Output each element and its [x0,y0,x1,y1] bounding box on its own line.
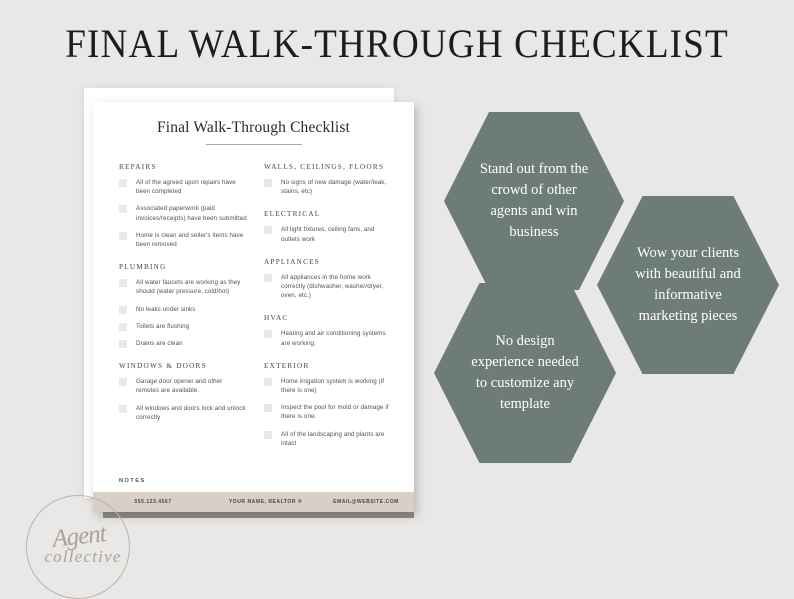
checklist-item-label: No signs of new damage (water/leak, stai… [281,178,392,196]
checklist-left-column: REPAIRS All of the agreed upon repairs h… [119,163,247,456]
checklist-item-label: All of the landscaping and plants are in… [281,430,392,448]
document-title: Final Walk-Through Checklist [93,119,414,137]
checklist-item-label: Drains are clean [136,339,183,348]
checklist-item-label: All windows and doors lock and unlock co… [136,404,247,422]
checklist-item-label: All water faucets are working as they sh… [136,278,247,296]
checklist-item[interactable]: Drains are clean [119,339,247,348]
checklist-item[interactable]: All of the landscaping and plants are in… [264,430,392,448]
checkbox-icon[interactable] [119,179,127,187]
checklist-item[interactable]: Inspect the pool for mold or damage if t… [264,403,392,421]
checklist-item-label: All of the agreed upon repairs have been… [136,178,247,196]
checkbox-icon[interactable] [119,279,127,287]
page-title: FINAL WALK-THROUGH CHECKLIST [28,22,766,66]
section-heading: REPAIRS [119,163,247,171]
checklist-item-label: Associated paperwork (paid invoices/rece… [136,204,247,222]
section-heading: APPLIANCES [264,258,392,266]
checklist-item[interactable]: Associated paperwork (paid invoices/rece… [119,204,247,222]
checkbox-icon[interactable] [119,232,127,240]
checklist-item[interactable]: All light fixtures, ceiling fans, and ou… [264,225,392,243]
document-front-sheet[interactable]: Final Walk-Through Checklist REPAIRS All… [93,102,414,512]
checkbox-icon[interactable] [264,404,272,412]
checklist-columns: REPAIRS All of the agreed upon repairs h… [119,163,392,456]
checklist-item[interactable]: Heating and air conditioning systems are… [264,329,392,347]
checklist-item[interactable]: Toilets are flushing [119,322,247,331]
section-windows-and-doors: WINDOWS & DOORS Garage door opener and o… [119,362,247,422]
section-electrical: ELECTRICAL All light fixtures, ceiling f… [264,210,392,243]
checkbox-icon[interactable] [119,340,127,348]
checklist-item-label: Toilets are flushing [136,322,189,331]
hexagon-callout-text: No design experience needed to customize… [470,331,580,415]
hexagon-callout-2: Wow your clients with beautiful and info… [597,196,779,374]
checklist-item[interactable]: No leaks under sinks [119,305,247,314]
notes-heading: NOTES [119,478,392,484]
checklist-item-label: Garage door opener and other remotes are… [136,377,247,395]
checkbox-icon[interactable] [119,205,127,213]
brand-watermark-logo: Agent collective [26,495,130,599]
checkbox-icon[interactable] [119,306,127,314]
hexagon-callout-3: No design experience needed to customize… [434,283,616,463]
checklist-item-label: All light fixtures, ceiling fans, and ou… [281,225,392,243]
section-repairs: REPAIRS All of the agreed upon repairs h… [119,163,247,249]
checklist-item[interactable]: All of the agreed upon repairs have been… [119,178,247,196]
checklist-item-label: All appliances in the home work correctl… [281,273,392,301]
checklist-item[interactable]: No signs of new damage (water/leak, stai… [264,178,392,196]
checkbox-icon[interactable] [264,226,272,234]
checklist-item[interactable]: All appliances in the home work correctl… [264,273,392,301]
section-walls-ceilings-floors: WALLS, CEILINGS, FLOORS No signs of new … [264,163,392,196]
section-appliances: APPLIANCES All appliances in the home wo… [264,258,392,301]
checkbox-icon[interactable] [119,323,127,331]
checkbox-icon[interactable] [264,431,272,439]
section-heading: WINDOWS & DOORS [119,362,247,370]
checklist-item[interactable]: Garage door opener and other remotes are… [119,377,247,395]
checklist-item-label: Home is clean and seller's items have be… [136,231,247,249]
checkbox-icon[interactable] [264,274,272,282]
hexagon-callout-1: Stand out from the crowd of other agents… [444,112,624,290]
footer-name: YOUR NAME, REALTOR ® [213,499,318,505]
section-exterior: EXTERIOR Home irrigation system is worki… [264,362,392,448]
checklist-item-label: Inspect the pool for mold or damage if t… [281,403,392,421]
section-hvac: HVAC Heating and air conditioning system… [264,314,392,347]
footer-email: EMAIL@WEBSITE.COM [318,499,414,505]
section-heading: EXTERIOR [264,362,392,370]
checklist-item-label: No leaks under sinks [136,305,195,314]
document-stack-shadow [103,512,414,518]
checkbox-icon[interactable] [264,330,272,338]
checkbox-icon[interactable] [264,179,272,187]
checkbox-icon[interactable] [264,378,272,386]
checklist-item[interactable]: Home irrigation system is working (if th… [264,377,392,395]
hexagon-callout-text: Wow your clients with beautiful and info… [623,243,753,327]
section-plumbing: PLUMBING All water faucets are working a… [119,263,247,348]
checkbox-icon[interactable] [119,378,127,386]
hexagon-callout-text: Stand out from the crowd of other agents… [474,159,594,243]
document-footer-bar: 555.123.4567 YOUR NAME, REALTOR ® EMAIL@… [93,492,414,512]
checklist-right-column: WALLS, CEILINGS, FLOORS No signs of new … [264,163,392,456]
section-heading: WALLS, CEILINGS, FLOORS [264,163,392,171]
checklist-item[interactable]: All water faucets are working as they sh… [119,278,247,296]
logo-line-2: collective [42,547,124,567]
checklist-item[interactable]: All windows and doors lock and unlock co… [119,404,247,422]
checklist-item-label: Heating and air conditioning systems are… [281,329,392,347]
document-title-divider [206,144,302,145]
document-preview-stack[interactable]: Final Walk-Through Checklist Final Walk-… [84,88,414,512]
section-heading: ELECTRICAL [264,210,392,218]
checklist-item[interactable]: Home is clean and seller's items have be… [119,231,247,249]
checklist-item-label: Home irrigation system is working (if th… [281,377,392,395]
section-heading: HVAC [264,314,392,322]
section-heading: PLUMBING [119,263,247,271]
checkbox-icon[interactable] [119,405,127,413]
